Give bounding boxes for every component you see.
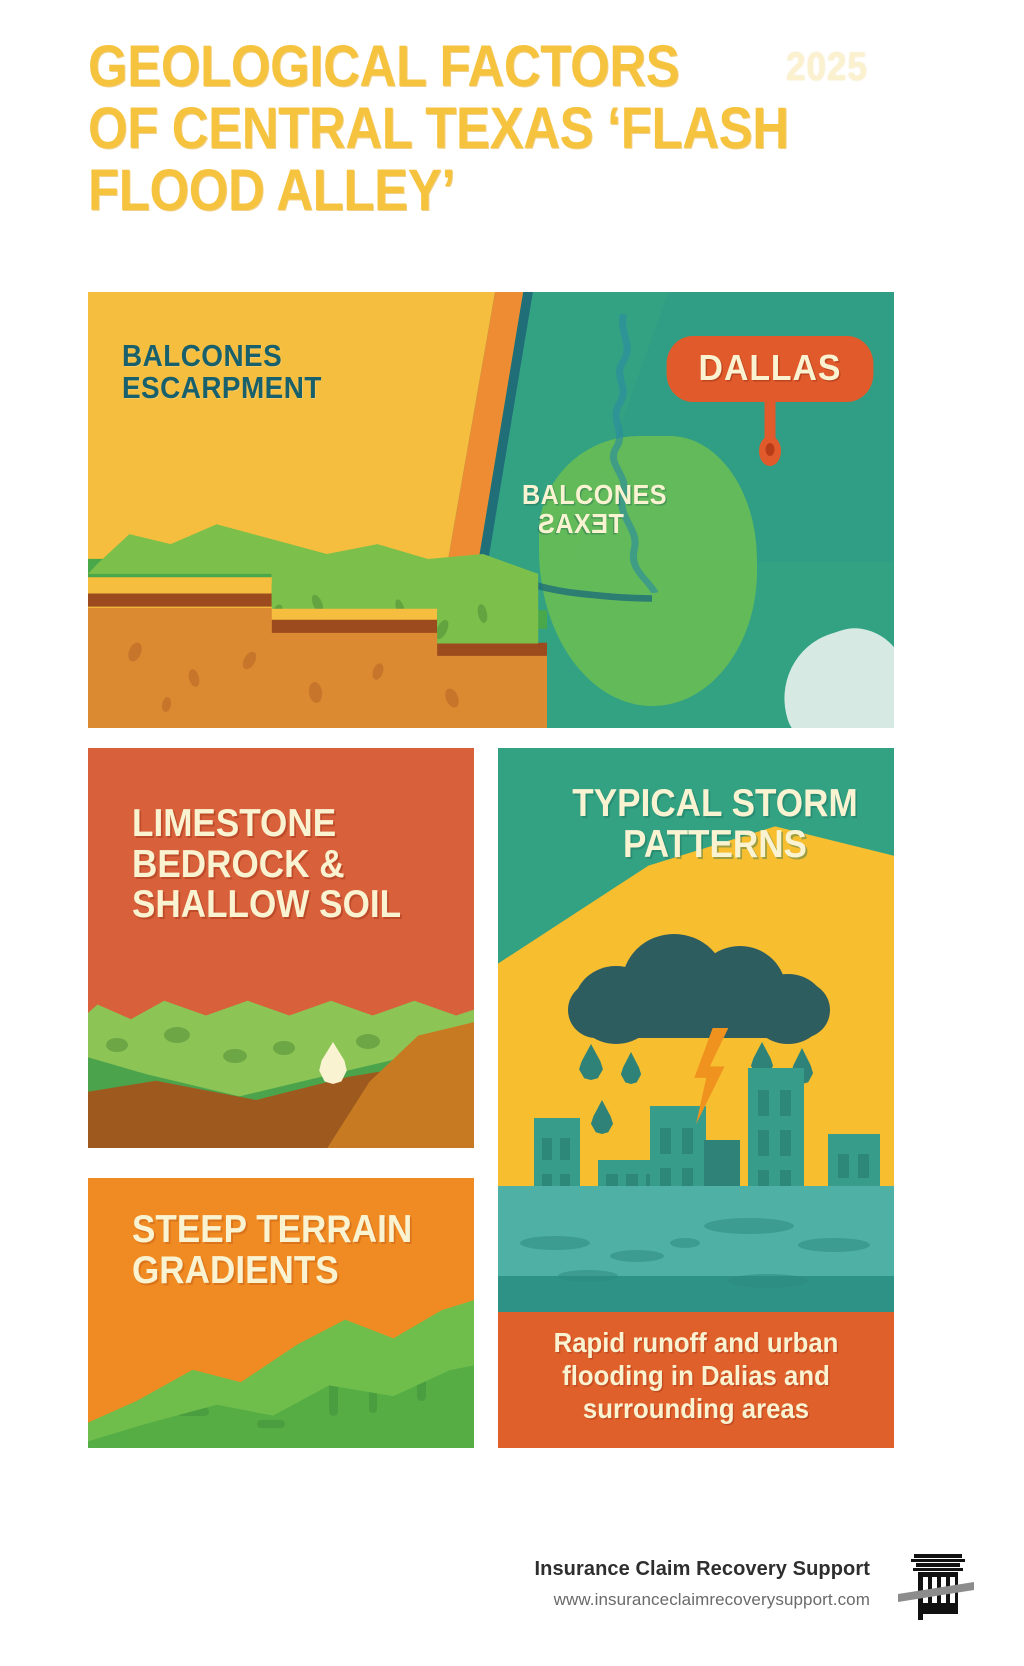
- limestone-panel: LIMESTONE BEDROCK & SHALLOW SOIL: [88, 748, 474, 1148]
- company-name: Insurance Claim Recovery Support: [534, 1558, 870, 1581]
- map-label-west: BALCONES ESCARPMENT: [122, 340, 322, 404]
- title-row: GEOLOGICAL FACTORS 2025: [88, 36, 968, 98]
- map-label-east: BALCONES TEXAS: [522, 480, 667, 538]
- page-header: GEOLOGICAL FACTORS 2025 OF CENTRAL TEXAS…: [88, 36, 968, 222]
- map-pin-icon: [759, 436, 781, 466]
- page-title-line-3: FLOOD ALLEY’: [88, 160, 862, 222]
- map-cloud-wisp: [767, 615, 894, 728]
- storm-heading: TYPICAL STORM PATTERNS: [567, 784, 864, 865]
- steep-heading-line2: GRADIENTS: [132, 1251, 412, 1292]
- map-label-west-line2: ESCARPMENT: [122, 372, 322, 404]
- limestone-heading-line1: LIMESTONE: [132, 804, 401, 845]
- storm-panel: TYPICAL STORM PATTERNS: [498, 748, 894, 1448]
- storm-caption-band: Rapid runoff and urban flooding in Dalia…: [498, 1312, 894, 1448]
- dallas-city-marker[interactable]: DALLAS: [660, 336, 880, 402]
- storm-heading-line1: TYPICAL STORM: [567, 784, 864, 825]
- page-title-line-2: OF CENTRAL TEXAS ‘FLASH: [88, 98, 862, 160]
- storm-heading-line2: PATTERNS: [567, 825, 864, 866]
- company-website[interactable]: www.insuranceclaimrecoverysupport.com: [534, 1590, 870, 1610]
- map-label-east-line1: BALCONES: [522, 480, 667, 509]
- storm-cloud-icon: [568, 926, 830, 1038]
- steep-terrain-heading: STEEP TERRAIN GRADIENTS: [132, 1210, 412, 1291]
- year-label: 2025: [786, 36, 868, 98]
- steep-heading-line1: STEEP TERRAIN: [132, 1210, 412, 1251]
- limestone-heading: LIMESTONE BEDROCK & SHALLOW SOIL: [132, 804, 401, 926]
- footer-inner: Insurance Claim Recovery Support www.ins…: [534, 1546, 972, 1622]
- storm-caption: Rapid runoff and urban flooding in Dalia…: [525, 1326, 867, 1425]
- limestone-heading-line3: SHALLOW SOIL: [132, 885, 401, 926]
- steep-terrain-panel: STEEP TERRAIN GRADIENTS: [88, 1178, 474, 1448]
- footer-text-block: Insurance Claim Recovery Support www.ins…: [534, 1558, 870, 1610]
- limestone-heading-line2: BEDROCK &: [132, 845, 401, 886]
- map-label-west-line1: BALCONES: [122, 340, 322, 372]
- map-label-east-line2: TEXAS: [522, 509, 667, 538]
- page-title-line-1: GEOLOGICAL FACTORS: [88, 36, 679, 98]
- dallas-label[interactable]: DALLAS: [667, 336, 874, 402]
- flood-water-shoreline: [498, 1276, 894, 1312]
- map-cross-section: [88, 479, 547, 728]
- column-pillar-logo-icon: [896, 1546, 972, 1622]
